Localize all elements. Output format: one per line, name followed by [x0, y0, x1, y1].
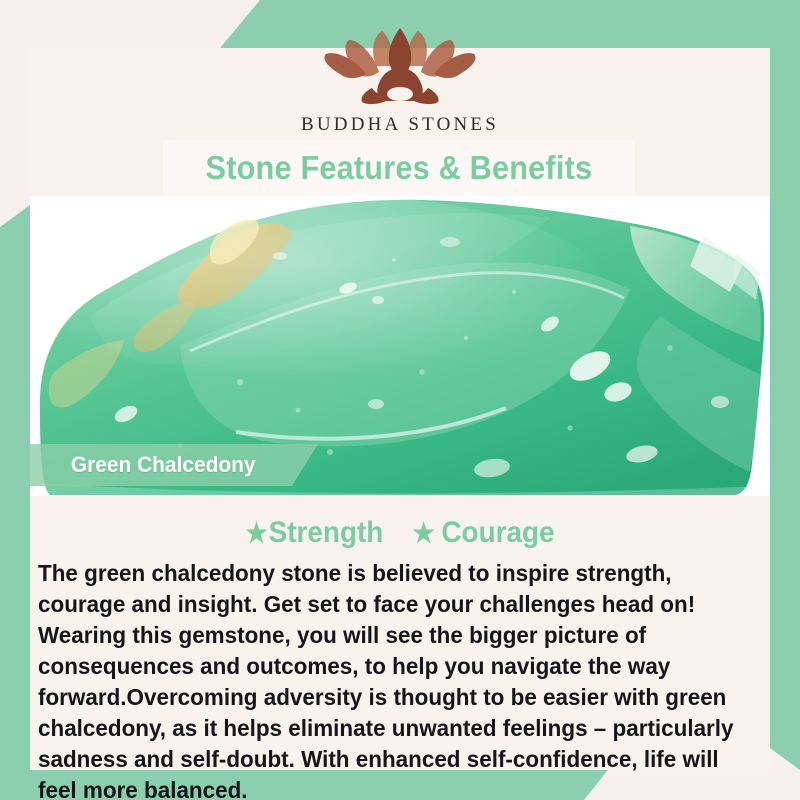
brand-logo: BUDDHA STONES — [0, 22, 800, 136]
benefit-courage: ★ Courage — [412, 516, 554, 550]
decor-left-bar — [0, 205, 30, 780]
lotus-meditation-icon — [316, 22, 484, 110]
stone-name-text: Green Chalcedony — [71, 452, 256, 478]
stone-name-label: Green Chalcedony — [30, 444, 318, 486]
star-icon: ★ — [245, 520, 268, 547]
benefit-strength: ★ Strength — [245, 516, 383, 550]
stone-photo: Green Chalcedony — [30, 196, 770, 496]
poster-canvas: BUDDHA STONES Stone Features & Benefits — [0, 0, 800, 800]
star-icon: ★ — [412, 520, 435, 547]
page-title: Stone Features & Benefits — [206, 149, 593, 187]
brand-name: BUDDHA STONES — [301, 114, 499, 136]
benefit-label: Strength — [269, 516, 384, 550]
description-paragraph: The green chalcedony stone is believed t… — [38, 558, 741, 800]
title-banner: Stone Features & Benefits — [163, 140, 635, 196]
benefit-label: Courage — [441, 516, 554, 550]
benefits-row: ★ Strength ★ Courage — [30, 516, 770, 550]
